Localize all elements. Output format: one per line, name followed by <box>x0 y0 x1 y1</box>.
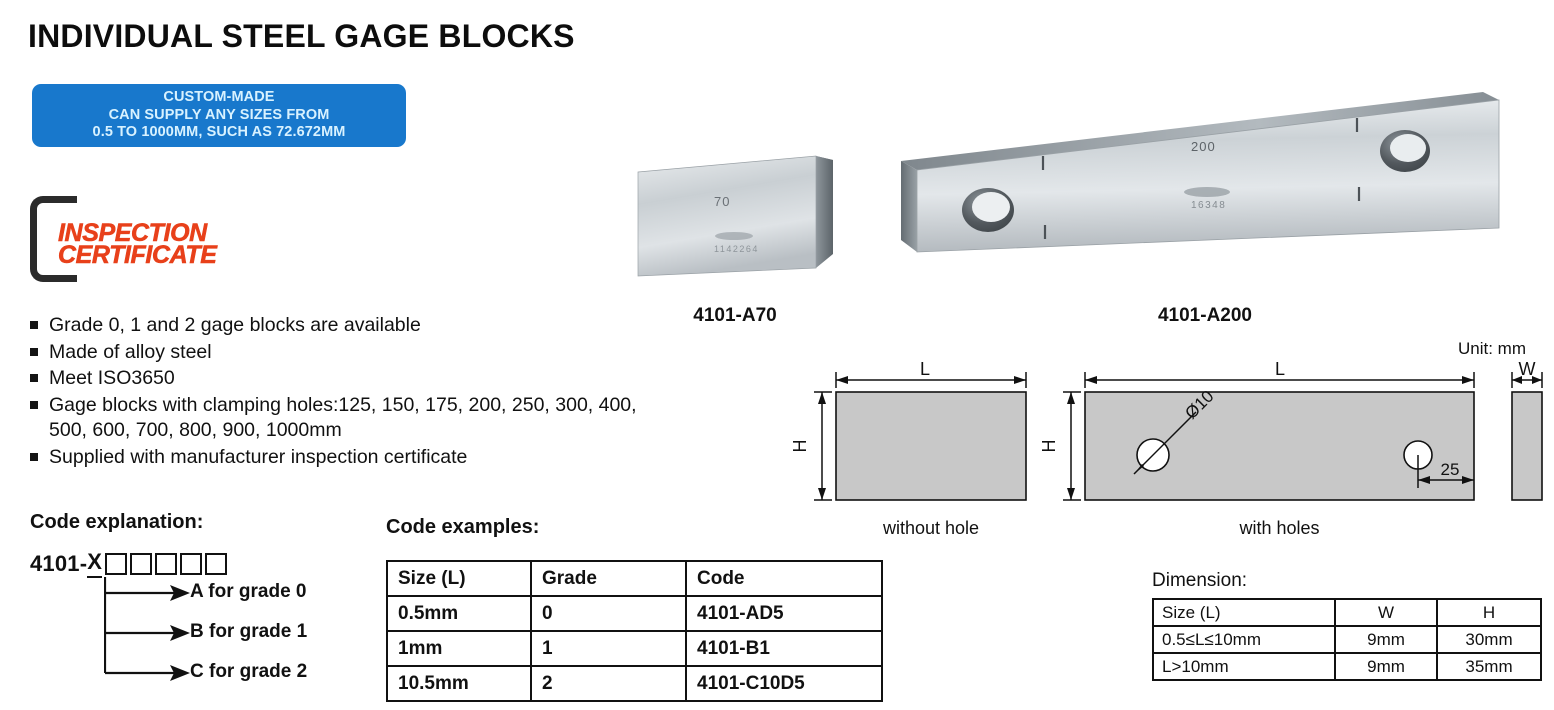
product-caption-4101-a200: 4101-A200 <box>900 305 1510 327</box>
product-photo-4101-a200: 200 16348 <box>895 88 1505 298</box>
table-header-row: Size (L)GradeCode <box>387 561 882 596</box>
feature-item-label: Made of alloy steel <box>49 340 212 366</box>
code-explanation-title: Code explanation: <box>30 511 203 534</box>
table-cell: 2 <box>531 666 686 701</box>
page-title: INDIVIDUAL STEEL GAGE BLOCKS <box>28 18 575 55</box>
code-pattern-box <box>180 553 202 575</box>
gage-block-small-illustration: 70 1142264 <box>630 150 840 280</box>
label-length-without-hole: L <box>920 359 930 379</box>
table-cell: 0.5mm <box>387 596 531 631</box>
table-cell: 35mm <box>1437 653 1541 680</box>
caption-without-hole: without hole <box>836 518 1026 539</box>
code-examples-title: Code examples: <box>386 516 539 539</box>
table-header-cell: W <box>1335 599 1437 626</box>
feature-item: Meet ISO3650 <box>30 366 650 392</box>
svg-text:70: 70 <box>714 194 730 209</box>
feature-item-label: Gage blocks with clamping holes:125, 150… <box>49 393 650 444</box>
table-row: 10.5mm24101-C10D5 <box>387 666 882 701</box>
label-edge-distance: 25 <box>1441 460 1460 479</box>
bullet-square-icon <box>30 321 38 329</box>
table-header-cell: Size (L) <box>387 561 531 596</box>
bullet-square-icon <box>30 348 38 356</box>
code-branch-label: C for grade 2 <box>190 661 307 683</box>
feature-item-label: Meet ISO3650 <box>49 366 175 392</box>
code-pattern-box <box>205 553 227 575</box>
bullet-square-icon <box>30 401 38 409</box>
inspection-logo-line-2: CERTIFICATE <box>58 243 217 268</box>
bullet-square-icon <box>30 374 38 382</box>
code-pattern-variable: X <box>87 549 102 578</box>
table-cell: 4101-C10D5 <box>686 666 882 701</box>
feature-item-label: Supplied with manufacturer inspection ce… <box>49 445 467 471</box>
table-cell: 10.5mm <box>387 666 531 701</box>
code-pattern-boxes <box>102 553 227 575</box>
code-pattern: 4101- X <box>30 549 227 578</box>
feature-item-label: Grade 0, 1 and 2 gage blocks are availab… <box>49 313 421 339</box>
svg-text:200: 200 <box>1191 139 1216 154</box>
table-cell: 4101-AD5 <box>686 596 882 631</box>
table-cell: 9mm <box>1335 626 1437 653</box>
table-header-cell: Code <box>686 561 882 596</box>
feature-item: Supplied with manufacturer inspection ce… <box>30 445 650 471</box>
custom-badge-line-2: CAN SUPPLY ANY SIZES FROM <box>109 107 330 125</box>
unit-label: Unit: mm <box>1458 339 1526 359</box>
code-branch-label: A for grade 0 <box>190 581 307 603</box>
table-row: 1mm14101-B1 <box>387 631 882 666</box>
table-header-cell: Size (L) <box>1153 599 1335 626</box>
dimension-table: Size (L)WH0.5≤L≤10mm9mm30mmL>10mm9mm35mm <box>1152 598 1542 681</box>
feature-item: Gage blocks with clamping holes:125, 150… <box>30 393 650 444</box>
bullet-square-icon <box>30 453 38 461</box>
table-cell: 1 <box>531 631 686 666</box>
inspection-certificate-logo: INSPECTION CERTIFICATE <box>30 196 250 276</box>
label-hole-diameter: Ø10 <box>1181 387 1217 423</box>
custom-made-badge: CUSTOM-MADE CAN SUPPLY ANY SIZES FROM 0.… <box>32 84 406 147</box>
code-branch-label: B for grade 1 <box>190 621 307 643</box>
svg-text:16348: 16348 <box>1191 200 1226 211</box>
table-row: L>10mm9mm35mm <box>1153 653 1541 680</box>
svg-text:1142264: 1142264 <box>714 244 759 254</box>
table-row: 0.5mm04101-AD5 <box>387 596 882 631</box>
table-cell: L>10mm <box>1153 653 1335 680</box>
table-cell: 9mm <box>1335 653 1437 680</box>
code-examples-table: Size (L)GradeCode0.5mm04101-AD51mm14101-… <box>386 560 883 702</box>
label-height-without-hole: H <box>790 440 810 453</box>
dimension-table-title: Dimension: <box>1152 570 1247 592</box>
feature-list: Grade 0, 1 and 2 gage blocks are availab… <box>30 313 650 471</box>
label-length-with-holes: L <box>1275 359 1285 379</box>
custom-badge-line-3: 0.5 TO 1000MM, SUCH AS 72.672MM <box>93 124 346 142</box>
code-pattern-box <box>105 553 127 575</box>
label-height-with-holes: H <box>1039 440 1059 453</box>
product-caption-4101-a70: 4101-A70 <box>630 305 840 327</box>
table-cell: 4101-B1 <box>686 631 882 666</box>
product-photo-4101-a70: 70 1142264 <box>630 150 840 280</box>
custom-badge-line-1: CUSTOM-MADE <box>163 89 274 107</box>
feature-item: Grade 0, 1 and 2 gage blocks are availab… <box>30 313 650 339</box>
table-header-row: Size (L)WH <box>1153 599 1541 626</box>
table-header-cell: H <box>1437 599 1541 626</box>
gage-block-large-illustration: 200 16348 <box>895 88 1505 298</box>
code-pattern-box <box>155 553 177 575</box>
feature-item: Made of alloy steel <box>30 340 650 366</box>
table-cell: 30mm <box>1437 626 1541 653</box>
code-pattern-prefix: 4101- <box>30 551 87 577</box>
table-header-cell: Grade <box>531 561 686 596</box>
table-cell: 0 <box>531 596 686 631</box>
caption-with-holes: with holes <box>1085 518 1474 539</box>
table-cell: 1mm <box>387 631 531 666</box>
code-pattern-box <box>130 553 152 575</box>
table-row: 0.5≤L≤10mm9mm30mm <box>1153 626 1541 653</box>
code-branch-diagram: A for grade 0B for grade 1C for grade 2 <box>104 577 374 687</box>
label-width-side-view: W <box>1519 359 1536 379</box>
table-cell: 0.5≤L≤10mm <box>1153 626 1335 653</box>
